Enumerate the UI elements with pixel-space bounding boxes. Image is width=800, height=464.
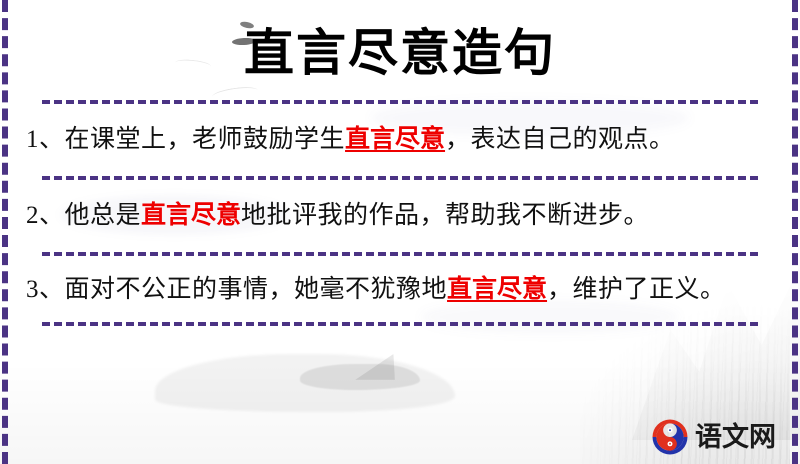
slide-content: 直言尽意造句 1、在课堂上，老师鼓励学生直言尽意，表达自己的观点。 2、他总是直… (0, 0, 800, 464)
divider-4 (42, 322, 758, 326)
dashed-border-right (792, 0, 798, 464)
sentence-1-after: ，表达自己的观点。 (445, 126, 675, 153)
sentence-3-keyword: 直言尽意 (447, 276, 547, 303)
sentence-2-after: 地批评我的作品，帮助我不断进步。 (241, 202, 649, 229)
sentence-2-before: 他总是 (65, 202, 142, 229)
taiji-yinyang-icon (651, 418, 689, 456)
sentence-3-index: 3、 (26, 276, 65, 303)
example-sentence-3: 3、面对不公正的事情，她毫不犹豫地直言尽意，维护了正义。 (22, 256, 778, 322)
sentence-1-keyword: 直言尽意 (345, 126, 445, 153)
example-sentence-1: 1、在课堂上，老师鼓励学生直言尽意，表达自己的观点。 (22, 104, 778, 176)
sentence-3-before: 面对不公正的事情，她毫不犹豫地 (65, 276, 448, 303)
site-logo[interactable]: 语文网 (651, 418, 776, 456)
sentence-2-index: 2、 (26, 202, 65, 229)
site-logo-text: 语文网 (695, 422, 776, 452)
example-sentence-2: 2、他总是直言尽意地批评我的作品，帮助我不断进步。 (22, 180, 778, 252)
page-title: 直言尽意造句 (22, 0, 778, 84)
sentence-1-before: 在课堂上，老师鼓励学生 (65, 126, 346, 153)
slide-page: 直言尽意造句 1、在课堂上，老师鼓励学生直言尽意，表达自己的观点。 2、他总是直… (0, 0, 800, 464)
sentence-1-index: 1、 (26, 126, 65, 153)
dashed-border-left (2, 0, 8, 464)
sentence-3-after: ，维护了正义。 (547, 276, 726, 303)
sentence-2-keyword: 直言尽意 (141, 202, 241, 229)
